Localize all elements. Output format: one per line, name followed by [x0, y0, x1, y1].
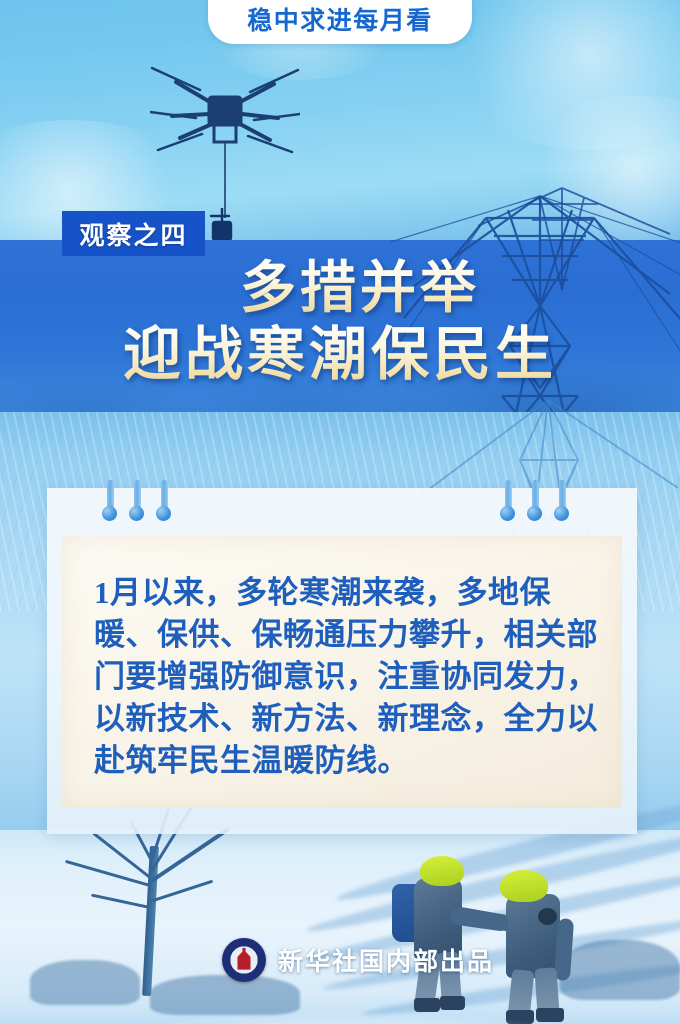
paragraph-line: 门要增强防御意识，注重协同发力， — [94, 656, 594, 698]
paragraph-line: 1月以来，多轮寒潮来袭，多地保 — [94, 572, 594, 614]
title-line-1: 多措并举 — [40, 258, 680, 320]
card-paragraph: 1月以来，多轮寒潮来袭，多地保 暖、保供、保畅通压力攀升，相关部 门要增强防御意… — [94, 572, 594, 782]
poster-root: 稳中求进每月看 观察之四 多措并举 迎战寒潮保民生 1月以来，多轮寒潮来袭，多地… — [0, 0, 680, 1024]
paragraph-line: 赴筑牢民生温暖防线。 — [94, 740, 594, 782]
xinhua-logo-icon — [222, 938, 266, 982]
badge-label: 稳中求进每月看 — [247, 1, 433, 37]
paragraph-line: 暖、保供、保畅通压力攀升，相关部 — [94, 614, 594, 656]
page-title: 多措并举 迎战寒潮保民生 — [0, 258, 680, 390]
title-line-2: 迎战寒潮保民生 — [0, 320, 680, 390]
ribbon-label: 观察之四 — [79, 216, 187, 252]
series-ribbon-tag: 观察之四 — [62, 211, 205, 256]
publisher-label: 新华社国内部出品 — [278, 942, 494, 978]
paragraph-line: 以新技术、新方法、新理念，全力以 — [94, 698, 594, 740]
top-badge[interactable]: 稳中求进每月看 — [208, 0, 472, 44]
footer: 新华社国内部出品 — [222, 936, 494, 984]
